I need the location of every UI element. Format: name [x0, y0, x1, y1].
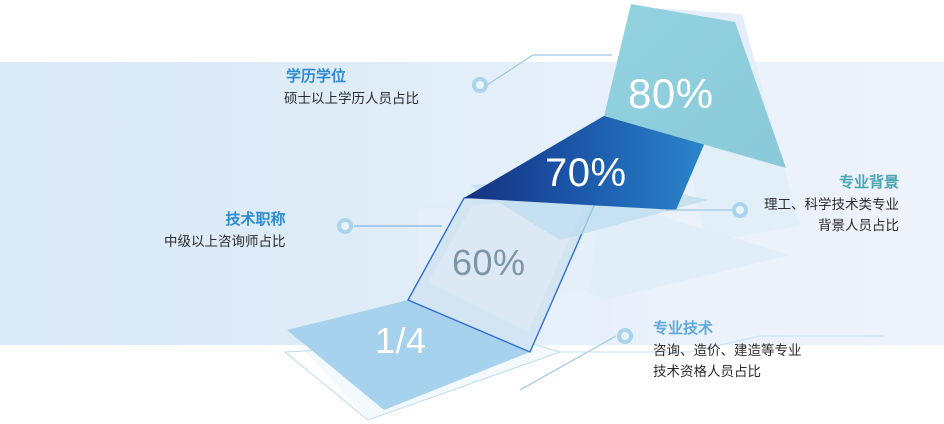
- callout-major-background-line-1: 理工、科学技术类专业: [764, 194, 899, 216]
- connector-dot-education[interactable]: [472, 77, 488, 93]
- callout-technical-title-title: 技术职称: [164, 209, 286, 231]
- panel-value-60: 60%: [452, 245, 526, 281]
- callout-professional-technology: 专业技术 咨询、造价、建造等专业 技术资格人员占比: [653, 318, 802, 383]
- infographic-canvas: 80% 70% 60% 1/4 学历学位 硕士以上学历人员占比 技术职称 中级以…: [0, 0, 944, 424]
- callout-education-line-1: 硕士以上学历人员占比: [284, 88, 419, 110]
- connector-dot-professional-technology[interactable]: [617, 328, 633, 344]
- callout-major-background-title: 专业背景: [764, 172, 899, 194]
- callout-technical-title-line-1: 中级以上咨询师占比: [164, 231, 286, 253]
- callout-major-background: 专业背景 理工、科学技术类专业 背景人员占比: [764, 172, 899, 237]
- callout-professional-technology-line-1: 咨询、造价、建造等专业: [653, 340, 802, 362]
- callout-professional-technology-title: 专业技术: [653, 318, 802, 340]
- panel-value-70: 70%: [545, 153, 627, 193]
- callout-professional-technology-line-2: 技术资格人员占比: [653, 361, 802, 383]
- panel-value-80: 80%: [628, 73, 714, 115]
- callout-technical-title: 技术职称 中级以上咨询师占比: [164, 209, 286, 252]
- callout-education: 学历学位 硕士以上学历人员占比: [284, 66, 419, 109]
- connector-dot-technical-title[interactable]: [337, 218, 353, 234]
- callout-education-title: 学历学位: [284, 66, 419, 88]
- callout-major-background-line-2: 背景人员占比: [764, 215, 899, 237]
- panel-value-quarter: 1/4: [375, 323, 427, 359]
- connector-line-education: [487, 55, 612, 85]
- connector-dot-major-background[interactable]: [732, 202, 748, 218]
